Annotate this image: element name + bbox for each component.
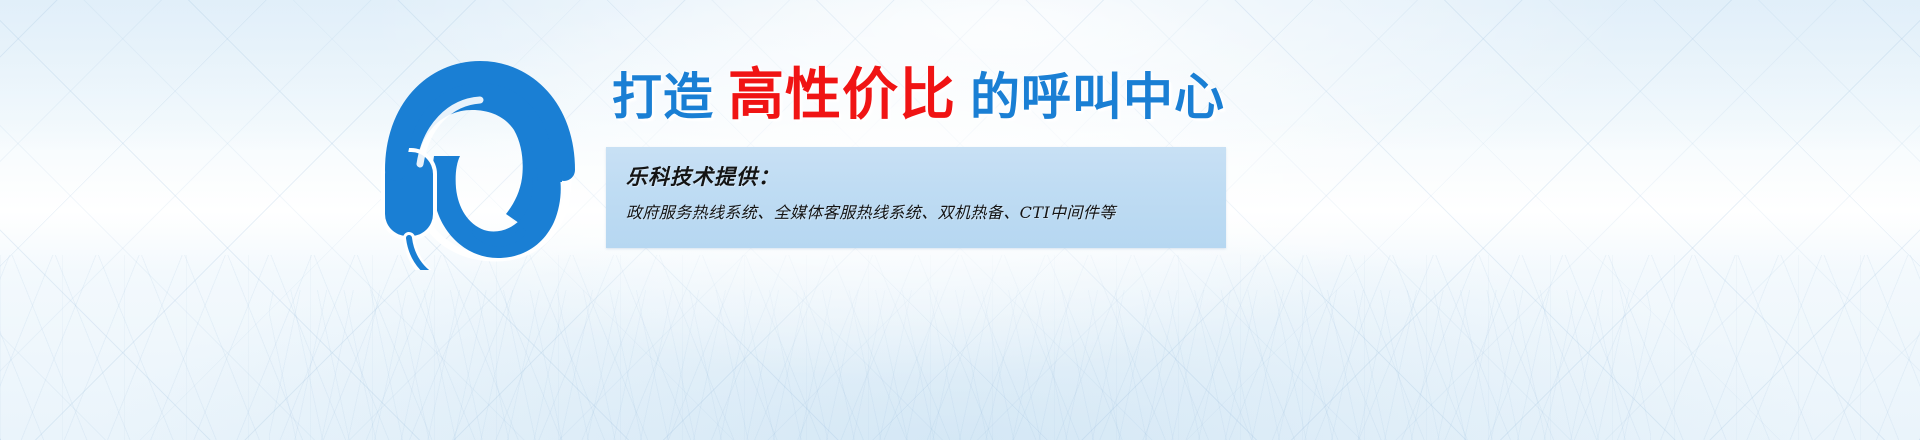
headline: 打造 高性价比 的呼叫中心: [612, 68, 1225, 124]
info-box-title: 乐科技术提供：: [626, 161, 1216, 191]
background-truss-rays-inner: [269, 290, 1651, 440]
customer-service-headset-icon: [372, 52, 588, 270]
info-box-description: 政府服务热线系统、全媒体客服热线系统、双机热备、CTI中间件等: [626, 199, 1216, 223]
headline-highlight: 高性价比: [714, 68, 970, 124]
info-box: 乐科技术提供： 政府服务热线系统、全媒体客服热线系统、双机热备、CTI中间件等: [606, 147, 1226, 248]
headline-part-2: 的呼叫中心: [970, 72, 1225, 122]
headline-part-1: 打造: [612, 72, 714, 122]
info-box-content: 乐科技术提供： 政府服务热线系统、全媒体客服热线系统、双机热备、CTI中间件等: [626, 161, 1216, 223]
promo-banner: 打造 高性价比 的呼叫中心 乐科技术提供： 政府服务热线系统、全媒体客服热线系统…: [0, 0, 1920, 440]
background-truss-rays: [0, 255, 1920, 440]
